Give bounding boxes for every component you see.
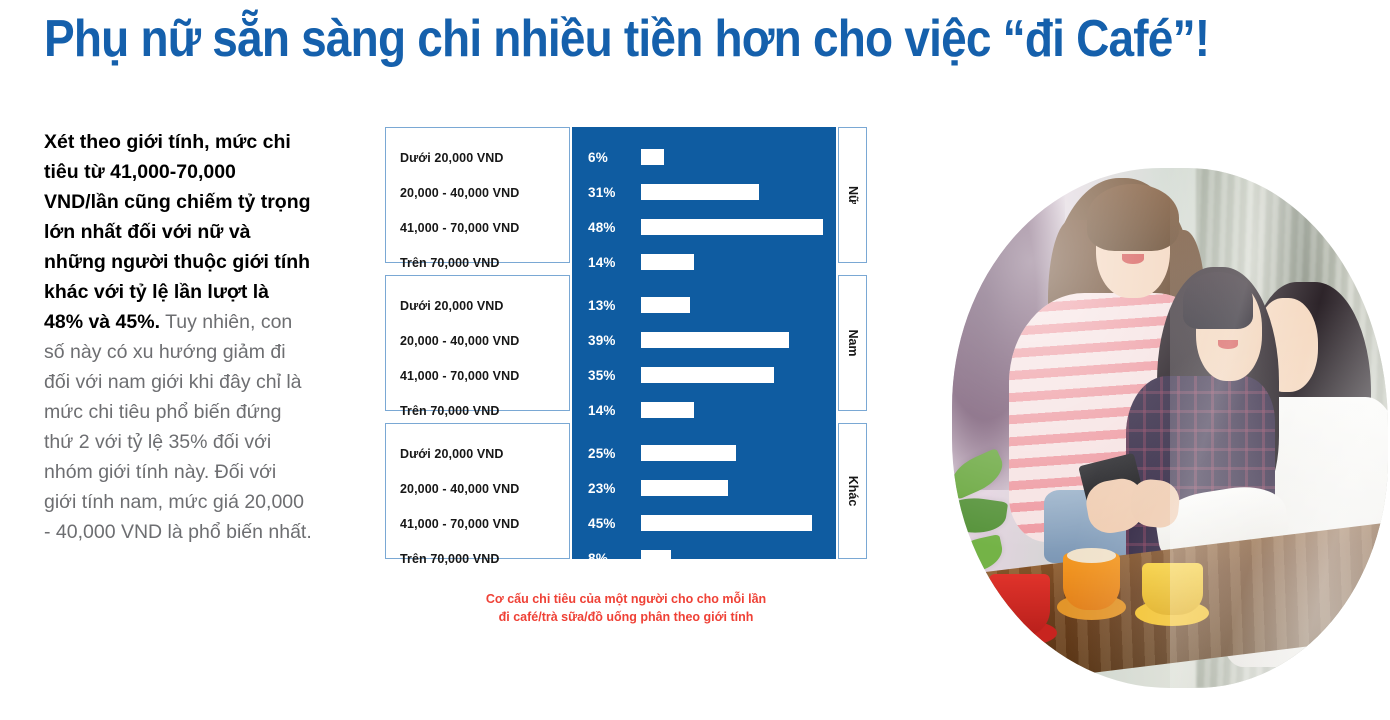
bar-value-label: 23% <box>588 471 616 506</box>
bar <box>641 332 789 348</box>
bar-value-label: 45% <box>588 506 616 541</box>
category-label: 20,000 - 40,000 VND <box>400 472 563 507</box>
category-label: Dưới 20,000 VND <box>400 141 563 176</box>
series-label-panel: Nam <box>838 275 867 411</box>
leaf-shape <box>952 448 1009 500</box>
bar-value-label: 6% <box>588 140 608 175</box>
category-label: 41,000 - 70,000 VND <box>400 507 563 542</box>
category-label-panel: Dưới 20,000 VND 20,000 - 40,000 VND 41,0… <box>385 127 570 263</box>
bars-area: 25% 23% 45% 8% <box>572 423 836 559</box>
bar <box>641 402 694 418</box>
bar-row: 13% <box>572 288 836 323</box>
category-label: 41,000 - 70,000 VND <box>400 359 563 394</box>
body-copy-rest: Tuy nhiên, con số này có xu hướng giảm đ… <box>44 311 312 543</box>
bars-area: 6% 31% 48% 14% <box>572 127 836 263</box>
category-label: 41,000 - 70,000 VND <box>400 211 563 246</box>
bar <box>641 367 774 383</box>
chart: Dưới 20,000 VND 20,000 - 40,000 VND 41,0… <box>385 127 867 559</box>
bar <box>641 550 671 566</box>
category-label-panel: Dưới 20,000 VND 20,000 - 40,000 VND 41,0… <box>385 423 570 559</box>
woman-middle-fringe <box>1183 272 1253 329</box>
bar-row: 23% <box>572 471 836 506</box>
bar-value-label: 48% <box>588 210 616 245</box>
coffee-cup-yellow <box>1142 563 1203 615</box>
body-copy: Xét theo giới tính, mức chi tiêu từ 41,0… <box>44 127 312 547</box>
bar-row: 6% <box>572 140 836 175</box>
bar <box>641 184 759 200</box>
chart-caption-line1: Cơ cấu chi tiêu của một người cho cho mỗ… <box>385 590 867 608</box>
bar-value-label: 8% <box>588 541 608 576</box>
bar-row: 8% <box>572 541 836 576</box>
woman-middle-smile <box>1218 340 1238 349</box>
bar-value-label: 39% <box>588 323 616 358</box>
infographic-page: Phụ nữ sẵn sàng chi nhiều tiền hơn cho v… <box>0 0 1390 720</box>
bar-row: 31% <box>572 175 836 210</box>
category-label-panel: Dưới 20,000 VND 20,000 - 40,000 VND 41,0… <box>385 275 570 411</box>
woman-back-fringe <box>1087 184 1179 252</box>
bar-value-label: 13% <box>588 288 616 323</box>
bar-value-label: 25% <box>588 436 616 471</box>
cafe-photo <box>952 168 1388 688</box>
series-label-panel: Nữ <box>838 127 867 263</box>
bar <box>641 515 812 531</box>
series-label: Khác <box>846 476 860 507</box>
page-title: Phụ nữ sẵn sàng chi nhiều tiền hơn cho v… <box>44 8 1344 68</box>
bar <box>641 149 664 165</box>
bar <box>641 254 694 270</box>
category-label: Dưới 20,000 VND <box>400 437 563 472</box>
leaf-shape <box>952 494 1009 537</box>
bar <box>641 480 728 496</box>
series-label: Nữ <box>846 186 860 204</box>
bar-row: 25% <box>572 436 836 471</box>
body-copy-bold: Xét theo giới tính, mức chi tiêu từ 41,0… <box>44 131 311 333</box>
bar <box>641 219 823 235</box>
bar-value-label: 31% <box>588 175 616 210</box>
bars-area: 13% 39% 35% 14% <box>572 275 836 411</box>
bar-value-label: 35% <box>588 358 616 393</box>
series-label-panel: Khác <box>838 423 867 559</box>
bar-row: 45% <box>572 506 836 541</box>
chart-caption: Cơ cấu chi tiêu của một người cho cho mỗ… <box>385 590 867 626</box>
chart-group-nu: Dưới 20,000 VND 20,000 - 40,000 VND 41,0… <box>385 127 867 263</box>
bar <box>641 445 736 461</box>
series-label: Nam <box>846 329 860 356</box>
chart-group-khac: Dưới 20,000 VND 20,000 - 40,000 VND 41,0… <box>385 423 867 559</box>
category-label: Dưới 20,000 VND <box>400 289 563 324</box>
bar-row: 48% <box>572 210 836 245</box>
category-label: 20,000 - 40,000 VND <box>400 176 563 211</box>
bar-row: 35% <box>572 358 836 393</box>
photo-scene <box>952 168 1388 688</box>
bar-row: 39% <box>572 323 836 358</box>
coffee-cup-orange <box>1063 553 1120 610</box>
coffee-cup-red <box>989 574 1050 636</box>
category-label: 20,000 - 40,000 VND <box>400 324 563 359</box>
bar <box>641 297 690 313</box>
chart-caption-line2: đi café/trà sữa/đồ uống phân theo giới t… <box>385 608 867 626</box>
category-label: Trên 70,000 VND <box>400 542 563 577</box>
chart-group-nam: Dưới 20,000 VND 20,000 - 40,000 VND 41,0… <box>385 275 867 411</box>
